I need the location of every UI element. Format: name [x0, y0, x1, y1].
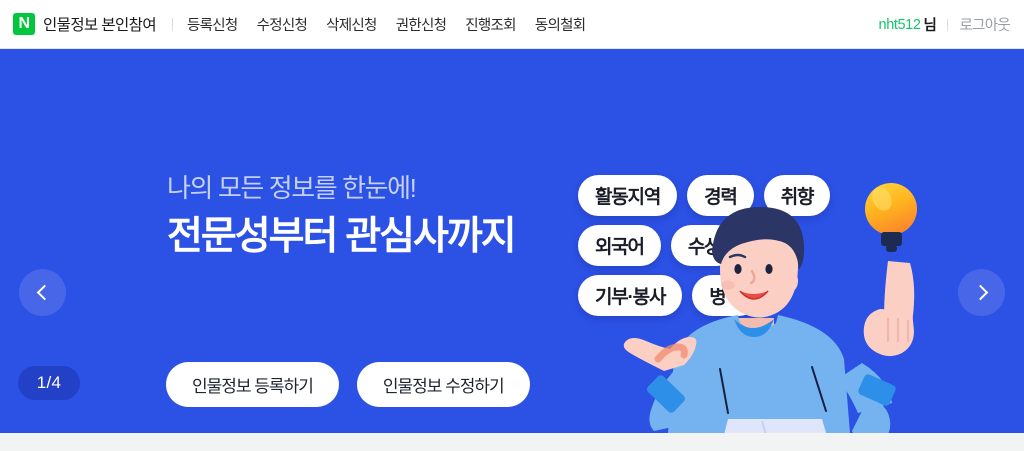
naver-logo-icon: N	[13, 13, 35, 35]
hero-banner: 나의 모든 정보를 한눈에! 전문성부터 관심사까지 인물정보 등록하기 인물정…	[0, 49, 1024, 433]
nav-item-withdraw[interactable]: 동의철회	[535, 14, 586, 35]
carousel-prev-button[interactable]	[19, 269, 66, 316]
brand-title: 인물정보 본인참여	[43, 13, 156, 35]
header-divider	[172, 18, 173, 31]
site-header: N 인물정보 본인참여 등록신청 수정신청 삭제신청 권한신청 진행조회 동의철…	[0, 0, 1024, 49]
user-area-divider	[947, 19, 948, 31]
slide-counter[interactable]: 1/4	[18, 366, 80, 400]
header-user-area: nht512 님 로그아웃	[879, 0, 1010, 49]
register-person-info-button[interactable]: 인물정보 등록하기	[166, 362, 339, 407]
hero-title: 전문성부터 관심사까지	[167, 213, 515, 260]
logout-button[interactable]: 로그아웃	[959, 14, 1010, 35]
cta-button-group: 인물정보 등록하기 인물정보 수정하기	[166, 362, 530, 407]
page-content-area	[0, 433, 1024, 451]
nav-item-progress[interactable]: 진행조회	[465, 14, 516, 35]
chevron-right-icon	[972, 285, 988, 301]
modify-person-info-button[interactable]: 인물정보 수정하기	[357, 362, 530, 407]
hero-copy-block: 나의 모든 정보를 한눈에! 전문성부터 관심사까지	[167, 171, 515, 260]
nav-item-authority[interactable]: 권한신청	[396, 14, 447, 35]
nav-item-delete[interactable]: 삭제신청	[326, 14, 377, 35]
brand-logo-group[interactable]: N 인물정보 본인참여	[13, 13, 156, 35]
user-suffix-label: 님	[923, 14, 936, 35]
chevron-left-icon	[36, 285, 52, 301]
main-navigation: 등록신청 수정신청 삭제신청 권한신청 진행조회 동의철회	[187, 14, 585, 35]
lightbulb-icon	[865, 183, 917, 252]
nav-item-register[interactable]: 등록신청	[187, 14, 238, 35]
nav-item-modify[interactable]: 수정신청	[257, 14, 308, 35]
hero-subtitle: 나의 모든 정보를 한눈에!	[167, 171, 515, 205]
carousel-next-button[interactable]	[958, 269, 1005, 316]
user-id-label: nht512	[879, 17, 921, 33]
